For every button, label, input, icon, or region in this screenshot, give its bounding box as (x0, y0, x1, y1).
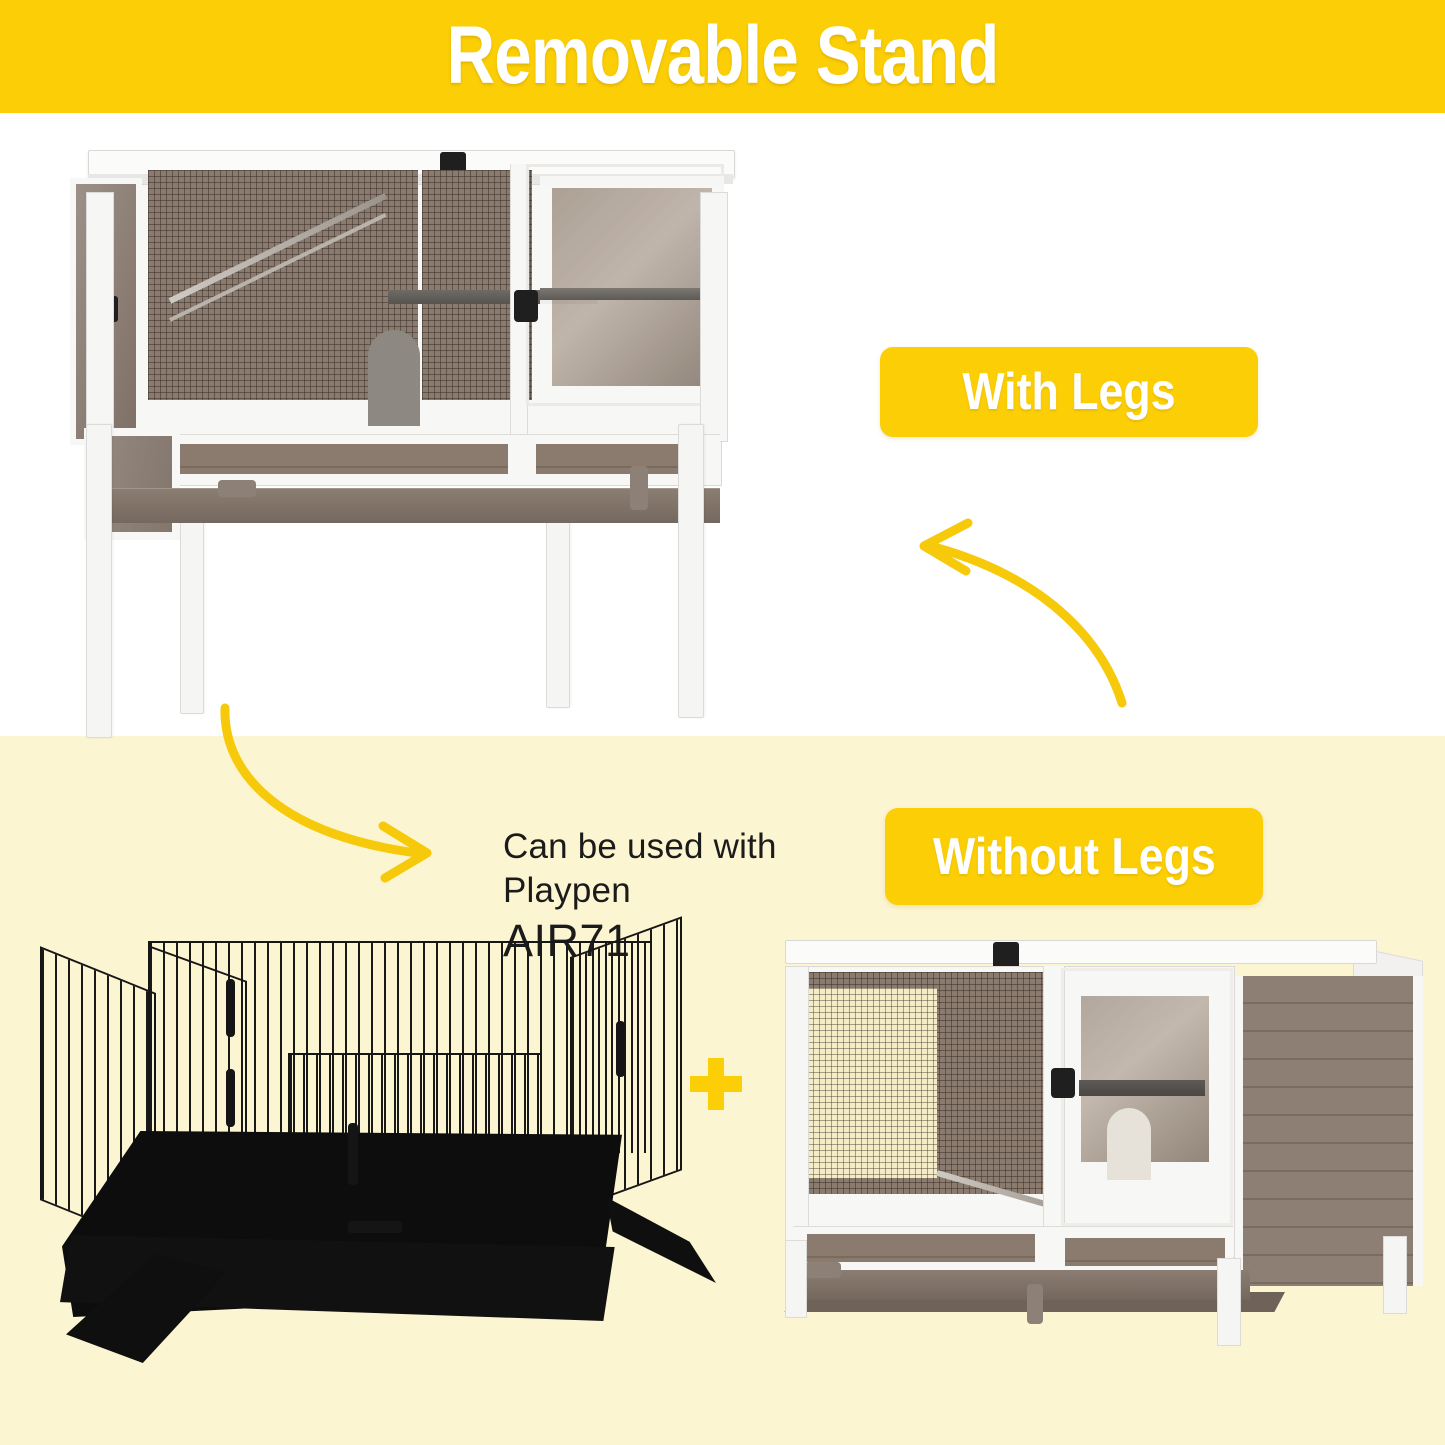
product-playpen (30, 935, 690, 1345)
hutch-door-acrylic-panel (540, 176, 724, 398)
tray-handle-center-icon (1027, 1284, 1043, 1324)
hutch2-foot-middle (1217, 1258, 1241, 1346)
product-hutch-without-legs (765, 940, 1420, 1330)
hutch2-interior-shelf (1079, 1080, 1205, 1096)
hutch2-corner-post-left (785, 966, 809, 1250)
door-latch-icon (1051, 1068, 1075, 1098)
hutch2-foot-left (785, 1240, 807, 1318)
hutch-interior-opening (368, 330, 420, 426)
hutch2-lower-wood-right (1065, 1238, 1225, 1266)
page-title: Removable Stand (130, 6, 1315, 106)
badge-without-legs-label: Without Legs (933, 827, 1216, 887)
hutch-lower-wood-left (148, 444, 508, 474)
playpen-clip-icon-4 (348, 1221, 402, 1233)
hutch-corner-post-left (86, 192, 114, 444)
playpen-clip-icon-3 (348, 1123, 358, 1185)
tray-handle-icon (218, 480, 256, 497)
badge-with-legs-label: With Legs (962, 362, 1175, 422)
hutch2-interior-opening (1107, 1108, 1151, 1180)
infographic-canvas: Removable Stand (0, 0, 1445, 1445)
playpen-caption-line1: Can be used with Playpen (503, 825, 903, 913)
hutch-leg-back-left (180, 520, 204, 714)
hutch2-mesh-window-lit (807, 988, 937, 1178)
hutch2-lower-wood-left (807, 1234, 1035, 1262)
playpen-clip-icon-2 (226, 1069, 235, 1127)
curved-arrow-left-icon (890, 505, 1150, 715)
hutch-leg-back-right (546, 516, 570, 708)
playpen-clip-icon-5 (616, 1021, 625, 1077)
badge-with-legs: With Legs (880, 347, 1258, 437)
hutch-shelf-right (540, 288, 700, 300)
playpen-clip-icon-1 (226, 979, 235, 1037)
door-latch-icon (514, 290, 538, 322)
badge-without-legs: Without Legs (885, 808, 1263, 905)
hutch2-pullout-tray (795, 1270, 1250, 1300)
hutch-corner-post-right (700, 192, 728, 442)
hutch2-foot-right (1383, 1236, 1407, 1314)
hutch-leg-front-right (678, 424, 704, 718)
plus-icon (690, 1058, 742, 1110)
product-hutch-with-legs (70, 148, 750, 738)
tray-handle-right-icon (630, 466, 648, 510)
hutch-pullout-tray (110, 488, 720, 523)
hutch-leg-front-left (86, 424, 112, 738)
tray-handle-icon (805, 1262, 841, 1278)
hutch2-roof (785, 940, 1377, 964)
